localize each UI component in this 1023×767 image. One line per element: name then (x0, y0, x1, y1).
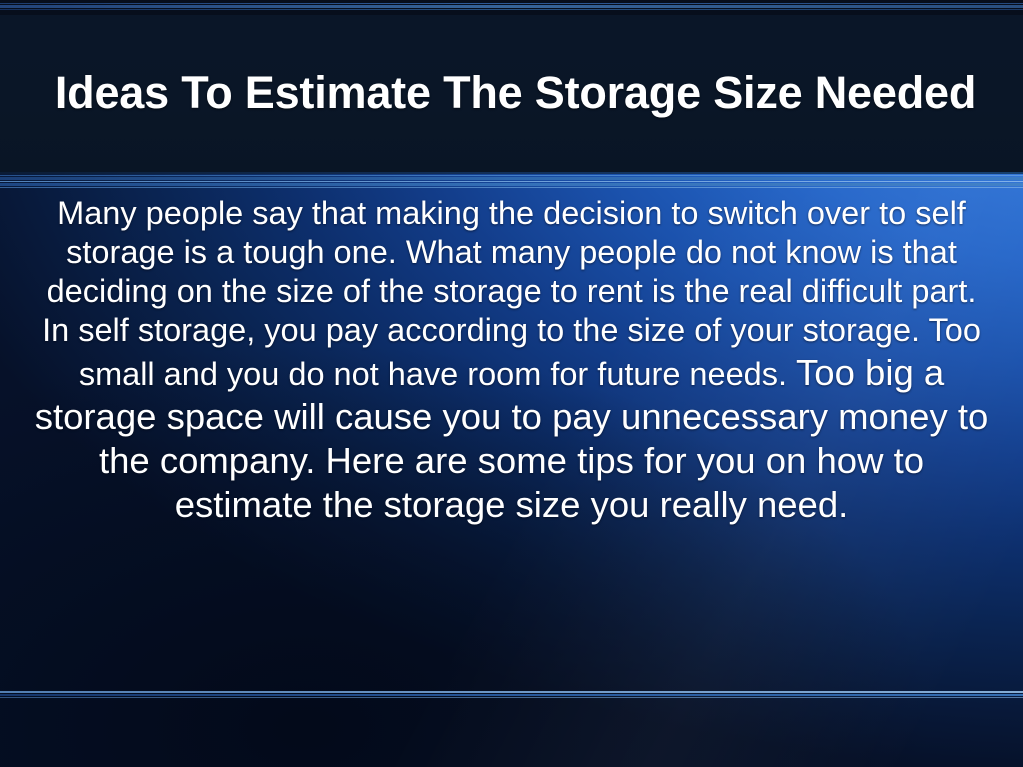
divider-line-3 (0, 181, 1023, 182)
top-accent-line-3 (0, 9, 1023, 10)
footer-line-4 (0, 697, 1023, 698)
divider-line-0 (0, 172, 1023, 174)
slide-body-area: Many people say that making the decision… (0, 192, 1023, 632)
footer-line-2 (0, 691, 1023, 693)
slide-body-paragraph: Many people say that making the decision… (32, 192, 992, 527)
footer-divider (0, 689, 1023, 701)
divider-line-2 (0, 177, 1023, 180)
presentation-slide: Ideas To Estimate The Storage Size Neede… (0, 0, 1023, 767)
footer-line-1 (0, 689, 1023, 690)
divider-line-1 (0, 175, 1023, 176)
title-body-divider (0, 172, 1023, 192)
slide-title: Ideas To Estimate The Storage Size Neede… (42, 65, 982, 121)
top-accent-line-2 (0, 5, 1023, 8)
divider-line-5 (0, 187, 1023, 188)
divider-line-4 (0, 183, 1023, 186)
footer-line-3 (0, 694, 1023, 696)
top-border-strip (0, 0, 1023, 15)
slide-title-band: Ideas To Estimate The Storage Size Neede… (0, 15, 1023, 172)
top-accent-line-1 (0, 3, 1023, 4)
